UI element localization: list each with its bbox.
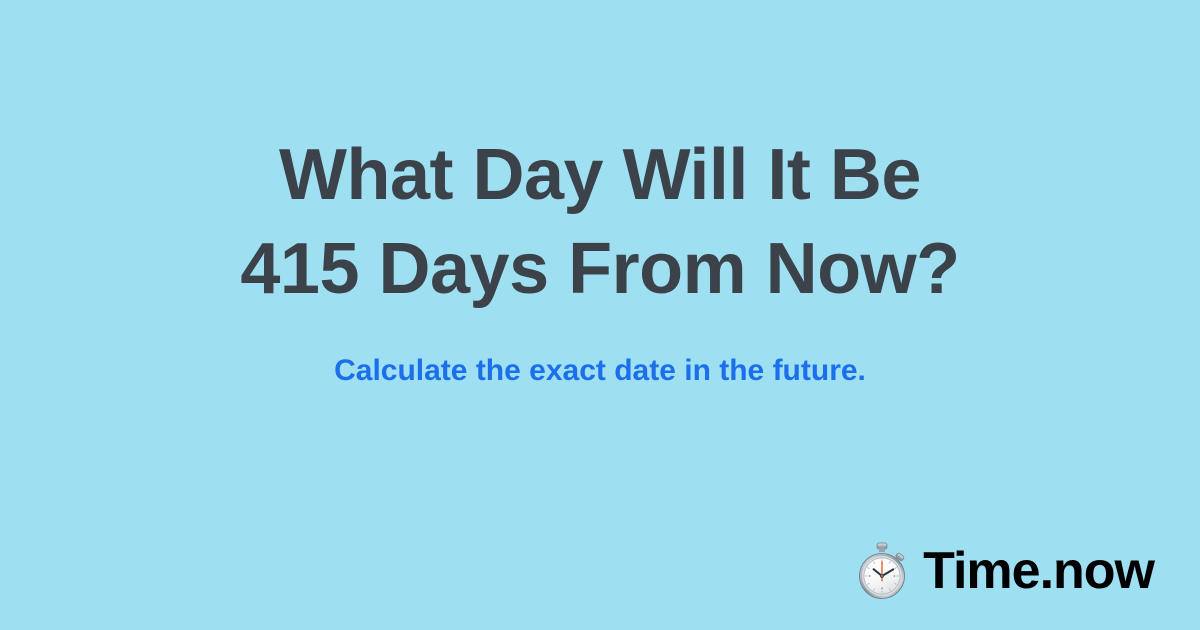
page-title: What Day Will It Be 415 Days From Now? (0, 128, 1200, 316)
social-share-card: What Day Will It Be 415 Days From Now? C… (0, 0, 1200, 630)
stopwatch-icon (855, 542, 909, 600)
page-subtitle: Calculate the exact date in the future. (0, 352, 1200, 390)
brand-name: Time.now (923, 544, 1154, 598)
headline-block: What Day Will It Be 415 Days From Now? (0, 128, 1200, 316)
subtitle-block: Calculate the exact date in the future. (0, 352, 1200, 390)
headline-line-1: What Day Will It Be (0, 128, 1200, 222)
headline-line-2: 415 Days From Now? (0, 222, 1200, 316)
brand-lockup[interactable]: Time.now (855, 542, 1154, 600)
